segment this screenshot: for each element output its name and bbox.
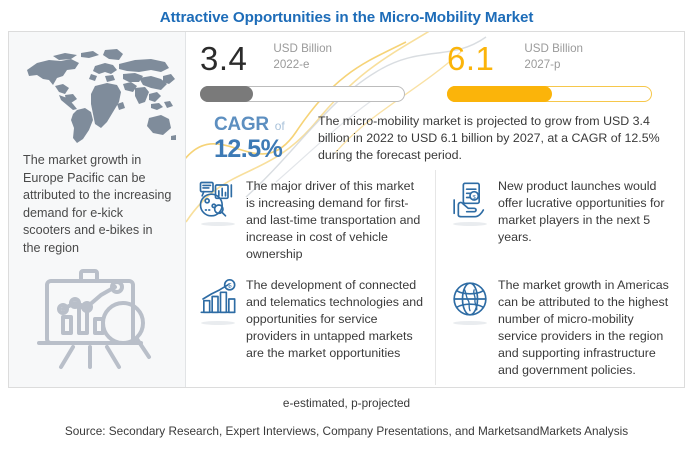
market-description: The micro-mobility market is projected t… bbox=[318, 112, 684, 164]
stat-block-2027: 6.1 USD Billion 2027-p bbox=[435, 38, 684, 102]
feature-text-americas: The market growth in Americas can be att… bbox=[494, 277, 674, 379]
feature-grid: The major driver of this market is incre… bbox=[186, 164, 684, 385]
stat-value-2022: 3.4 bbox=[200, 38, 247, 80]
feature-text-telematics: The development of connected and telemat… bbox=[242, 277, 425, 379]
feature-text-driver: The major driver of this market is incre… bbox=[242, 178, 425, 263]
cagr-row: CAGR of 12.5% The micro-mobility market … bbox=[186, 102, 684, 164]
cagr-of-label: of bbox=[275, 119, 285, 133]
feature-item-telematics: $ The development of connected and telem… bbox=[186, 269, 435, 385]
icon-shadow bbox=[201, 321, 235, 325]
feature-text-product-launches: New product launches would offer lucrati… bbox=[494, 178, 674, 263]
stat-unit-line1: USD Billion bbox=[524, 41, 583, 57]
icon-shadow bbox=[453, 321, 487, 325]
footnote: e-estimated, p-projected bbox=[0, 396, 693, 410]
document-chart-magnifier-icon bbox=[198, 178, 242, 263]
progress-bar-2027 bbox=[447, 86, 652, 102]
infographic-page: Attractive Opportunities in the Micro-Mo… bbox=[0, 0, 693, 449]
left-panel: The market growth in Europe Pacific can … bbox=[9, 32, 186, 387]
hand-money-launch-icon: $ bbox=[450, 178, 494, 263]
icon-shadow bbox=[453, 222, 487, 226]
title-bar: Attractive Opportunities in the Micro-Mo… bbox=[0, 0, 693, 34]
globe-icon bbox=[450, 277, 494, 379]
stat-value-2027: 6.1 bbox=[447, 38, 494, 80]
cagr-label: CAGR bbox=[214, 114, 269, 136]
stat-unit-2027: USD Billion 2027-p bbox=[524, 41, 583, 72]
world-map-icon bbox=[9, 32, 185, 150]
right-panel: 3.4 USD Billion 2022-e 6.1 USD bbox=[186, 32, 684, 387]
presentation-chart-magnifier-icon bbox=[31, 261, 163, 373]
cagr-value: 12.5% bbox=[214, 136, 318, 163]
feature-item-driver: The major driver of this market is incre… bbox=[186, 170, 435, 269]
stats-row: 3.4 USD Billion 2022-e 6.1 USD bbox=[186, 32, 684, 102]
source-line: Source: Secondary Research, Expert Inter… bbox=[0, 424, 693, 438]
bar-chart-dollar-icon: $ bbox=[198, 277, 242, 379]
stat-unit-2022: USD Billion 2022-e bbox=[273, 41, 332, 72]
left-panel-caption: The market growth in Europe Pacific can … bbox=[9, 150, 185, 257]
content-frame: The market growth in Europe Pacific can … bbox=[8, 31, 685, 388]
progress-bar-2027-fill bbox=[447, 86, 552, 102]
progress-bar-2022-fill bbox=[200, 86, 253, 102]
svg-text:$: $ bbox=[228, 282, 232, 289]
stat-unit-line1: USD Billion bbox=[273, 41, 332, 57]
stat-unit-line2: 2022-e bbox=[273, 57, 332, 73]
feature-item-americas: The market growth in Americas can be att… bbox=[435, 269, 684, 385]
icon-shadow bbox=[201, 222, 235, 226]
page-title: Attractive Opportunities in the Micro-Mo… bbox=[160, 9, 534, 26]
stat-block-2022: 3.4 USD Billion 2022-e bbox=[186, 38, 435, 102]
cagr-block: CAGR of 12.5% bbox=[214, 112, 318, 164]
progress-bar-2022 bbox=[200, 86, 405, 102]
stat-unit-line2: 2027-p bbox=[524, 57, 583, 73]
feature-item-product-launches: $ New product launches would offer lucra… bbox=[435, 170, 684, 269]
